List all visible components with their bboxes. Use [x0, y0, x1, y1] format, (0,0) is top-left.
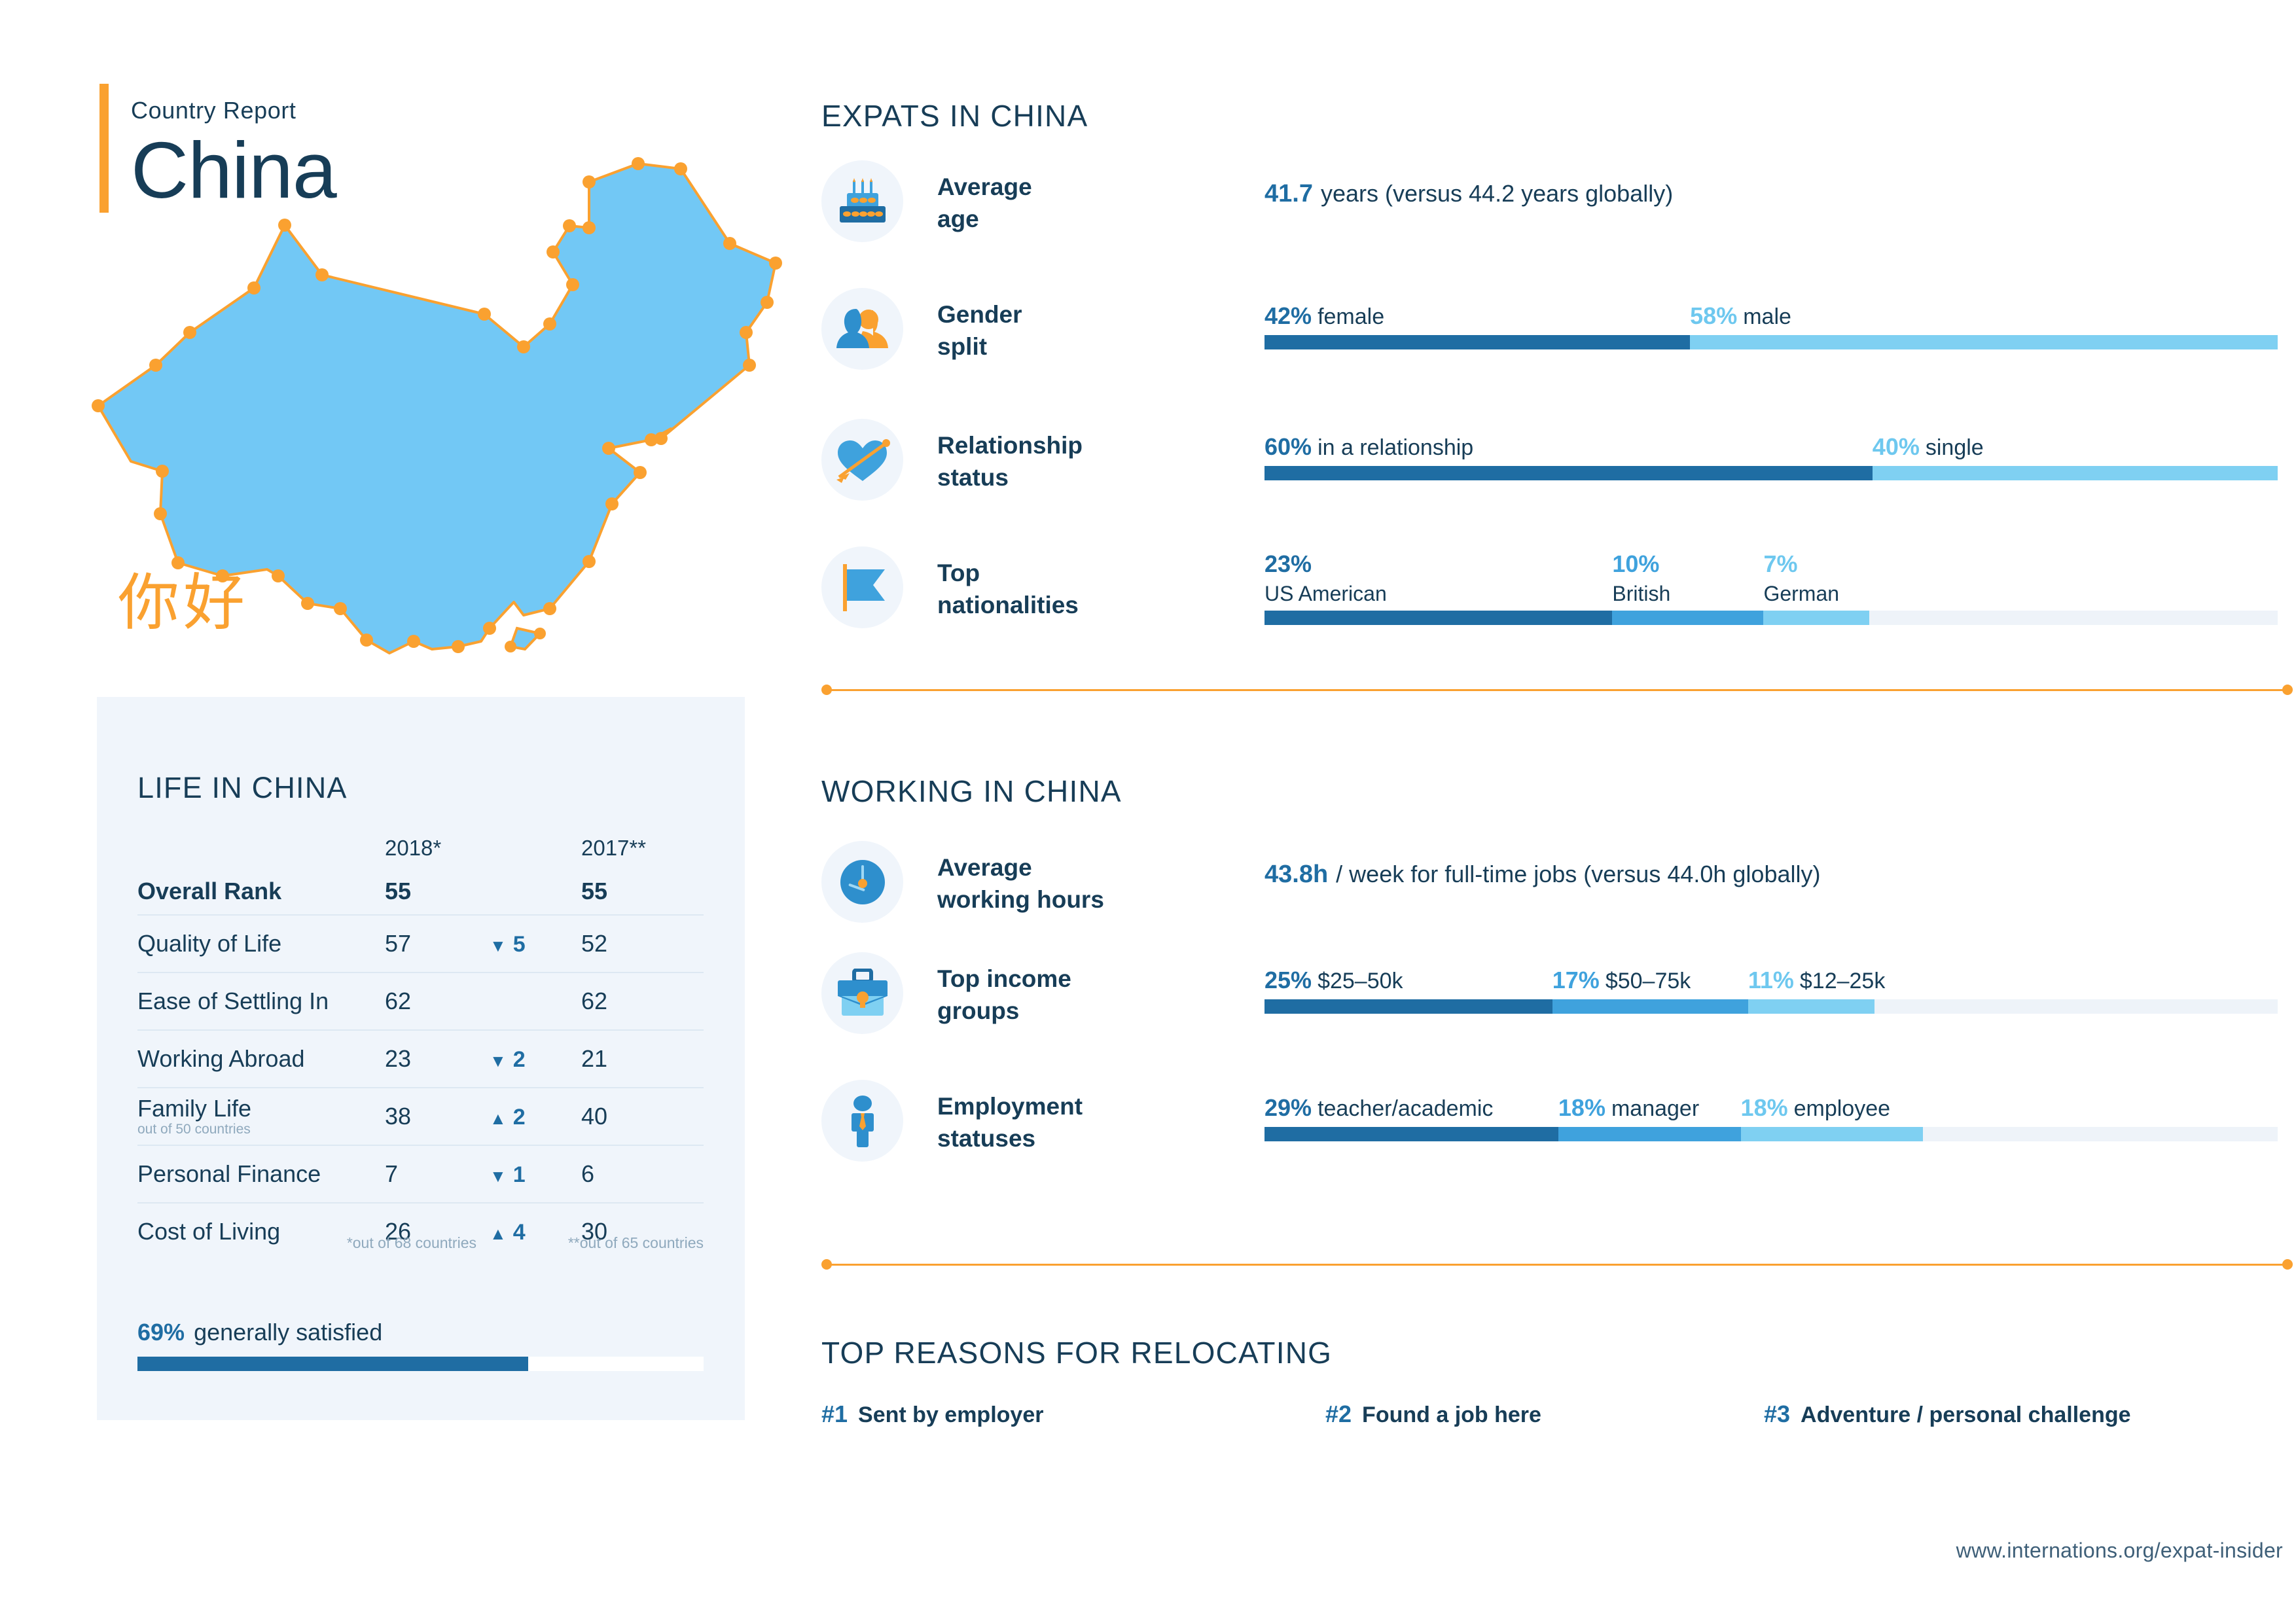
expats-section-title: EXPATS IN CHINA	[821, 98, 1088, 134]
reason-text: Found a job here	[1362, 1402, 1541, 1427]
split-bar-label: 23%US American	[1265, 550, 1387, 606]
split-bar-track	[1265, 466, 2278, 480]
row-rank-2018: 23	[385, 1045, 490, 1073]
reason-text: Adventure / personal challenge	[1801, 1402, 2130, 1427]
split-bar-labels: 42%female58%male	[1265, 302, 2278, 335]
stat-row-flag: Topnationalities23%US American10%British…	[821, 546, 2278, 628]
row-rank-2017: 21	[581, 1045, 699, 1073]
row-rank-change-value: 1	[513, 1162, 526, 1187]
split-bar-track	[1265, 1127, 2278, 1141]
row-rank-2018: 38	[385, 1103, 490, 1130]
stat-body: 42%female58%male	[1265, 288, 2278, 349]
split-bar-segment	[1748, 999, 1875, 1014]
stat-label-line1: Employment	[937, 1090, 1127, 1122]
row-rank-change: ▼5	[490, 930, 581, 957]
split-bar-track	[1265, 999, 2278, 1014]
briefcase-icon	[821, 952, 903, 1034]
clock-icon	[821, 841, 903, 923]
split-bar-segment	[1558, 1127, 1741, 1141]
table-header-row: 2018* 2017**	[137, 828, 704, 868]
split-bar-category: German	[1763, 582, 1839, 606]
footnote-2017: **out of 65 countries	[490, 1234, 704, 1253]
split-bar-percent: 11%	[1748, 967, 1794, 993]
stat-label-line2: working hours	[937, 883, 1127, 916]
table-row: Working Abroad23▼221	[137, 1029, 704, 1087]
divider-2	[821, 1259, 2293, 1270]
split-bar-track	[1265, 335, 2278, 349]
gender-couple-icon	[821, 288, 903, 370]
split-bar-category: $50–75k	[1605, 969, 1691, 993]
split-bar-percent: 25%	[1265, 967, 1312, 993]
split-bar-category: US American	[1265, 582, 1387, 606]
stat-value-caption: / week for full-time jobs (versus 44.0h …	[1336, 861, 1820, 887]
row-rank-change-value: 2	[513, 1105, 526, 1130]
stat-value-caption: years (versus 44.2 years globally)	[1321, 180, 1673, 207]
split-bar-category: British	[1612, 582, 1670, 606]
life-section-title: LIFE IN CHINA	[137, 771, 348, 805]
divider-1-dot-right	[2282, 685, 2293, 695]
stat-label-line2: status	[937, 461, 1127, 493]
row-index-name: Family Lifeout of 50 countries	[137, 1096, 385, 1137]
greeting-text: 你好	[118, 553, 249, 642]
stat-row-clock: Averageworking hours43.8h/ week for full…	[821, 841, 1820, 923]
split-bar-label: 29%teacher/academic	[1265, 1094, 1493, 1122]
split-bar-segment	[1265, 1127, 1558, 1141]
split-bar-label: 18%employee	[1741, 1094, 1890, 1122]
row-index-name: Working Abroad	[137, 1046, 385, 1071]
row-rank-2017: 62	[581, 988, 699, 1015]
split-bar-percent: 42%	[1265, 302, 1312, 329]
split-bar-segment	[1763, 611, 1869, 625]
left-column: Country Report China	[0, 0, 805, 1623]
split-bar-category: in a relationship	[1318, 435, 1473, 460]
satisfaction-percent: 69%	[137, 1319, 185, 1346]
divider-2-line	[827, 1264, 2287, 1266]
satisfaction-bar-fill	[137, 1357, 528, 1371]
table-footnotes: *out of 68 countries **out of 65 countri…	[137, 1234, 704, 1253]
stat-row-person-tie: Employmentstatuses29%teacher/academic18%…	[821, 1080, 2278, 1162]
split-bar-percent: 18%	[1741, 1094, 1788, 1121]
divider-1-line	[827, 689, 2287, 691]
row-rank-2017: 40	[581, 1103, 699, 1130]
reason-rank: #3	[1764, 1400, 1790, 1427]
stat-label: Relationshipstatus	[937, 419, 1127, 493]
row-rank-change: ▼1	[490, 1160, 581, 1188]
row-rank-2018: 7	[385, 1160, 490, 1188]
stat-label-line2: statuses	[937, 1122, 1127, 1154]
working-section-title: WORKING IN CHINA	[821, 774, 1122, 809]
stat-body: 60%in a relationship40%single	[1265, 419, 2278, 480]
split-bar-group: 42%female58%male	[1265, 302, 2278, 349]
header-col-2017: 2017**	[581, 836, 699, 861]
stat-label-line2: age	[937, 203, 1127, 235]
split-bar-labels: 60%in a relationship40%single	[1265, 433, 2278, 466]
split-bar-percent: 7%	[1763, 550, 1839, 578]
stat-row-gender-couple: Gendersplit42%female58%male	[821, 288, 2278, 370]
arrow-down-icon: ▼	[490, 936, 507, 955]
stat-label-line1: Gender	[937, 298, 1127, 330]
split-bar-label: 10%British	[1612, 550, 1670, 606]
split-bar-label: 58%male	[1690, 302, 1791, 330]
divider-2-dot-right	[2282, 1259, 2293, 1270]
footnote-2018: *out of 68 countries	[137, 1234, 490, 1253]
split-bar-percent: 18%	[1558, 1094, 1605, 1121]
stat-label: Averageworking hours	[937, 841, 1127, 916]
split-bar-label: 60%in a relationship	[1265, 433, 1473, 461]
divider-1	[821, 685, 2293, 695]
split-bar-percent: 17%	[1552, 967, 1600, 993]
split-bar-percent: 29%	[1265, 1094, 1312, 1121]
overall-rank-label: Overall Rank	[137, 878, 385, 905]
stat-label-line2: nationalities	[937, 589, 1127, 621]
split-bar-segment	[1612, 611, 1763, 625]
row-rank-2018: 57	[385, 930, 490, 957]
reason-rank: #2	[1325, 1400, 1352, 1427]
row-rank-2018: 62	[385, 988, 490, 1015]
header-col-2018: 2018*	[385, 836, 490, 861]
stat-label: Top incomegroups	[937, 952, 1127, 1027]
life-in-china-panel: LIFE IN CHINA 2018* 2017** Overall Rank …	[97, 697, 745, 1420]
split-bar-label: 40%single	[1873, 433, 1984, 461]
split-bar-category: single	[1926, 435, 1984, 460]
stat-label-line1: Average	[937, 171, 1127, 203]
life-table-body: Quality of Life57▼552Ease of Settling In…	[137, 914, 704, 1260]
heart-arrow-icon	[821, 419, 903, 501]
stat-label-line2: split	[937, 330, 1127, 363]
split-bar-label: 18%manager	[1558, 1094, 1699, 1122]
stat-body: 23%US American10%British7%German	[1265, 546, 2278, 625]
row-rank-2017: 6	[581, 1160, 699, 1188]
split-bar-group: 25%$25–50k17%$50–75k11%$12–25k	[1265, 967, 2278, 1014]
right-column: EXPATS IN CHINA Averageage41.7years (ver…	[821, 0, 2296, 1623]
split-bar-label: 42%female	[1265, 302, 1384, 330]
table-row: Ease of Settling In6262	[137, 972, 704, 1029]
reasons-section-title: TOP REASONS FOR RELOCATING	[821, 1335, 1332, 1370]
report-kicker: Country Report	[131, 97, 336, 124]
stat-label: Employmentstatuses	[937, 1080, 1127, 1154]
footer-url: www.internations.org/expat-insider	[1956, 1539, 2283, 1563]
stat-body: 43.8h/ week for full-time jobs (versus 4…	[1265, 841, 1820, 889]
row-rank-change-value: 2	[513, 1047, 526, 1072]
split-bar-segment	[1741, 1127, 1924, 1141]
row-rank-change: ▲2	[490, 1103, 581, 1130]
stat-body: 41.7years (versus 44.2 years globally)	[1265, 160, 1673, 208]
row-index-name: Personal Finance	[137, 1162, 385, 1186]
stat-label-line2: groups	[937, 995, 1127, 1027]
reason-item: #1Sent by employer	[821, 1400, 1043, 1428]
stat-label-line1: Average	[937, 851, 1127, 883]
split-bar-segment	[1265, 999, 1552, 1014]
table-row: Quality of Life57▼552	[137, 914, 704, 972]
stat-row-birthday-cake: Averageage41.7years (versus 44.2 years g…	[821, 160, 1673, 242]
stat-body: 29%teacher/academic18%manager18%employee	[1265, 1080, 2278, 1141]
stat-label-line1: Top income	[937, 963, 1127, 995]
split-bar-percent: 10%	[1612, 550, 1670, 578]
satisfaction-line: 69%generally satisfied	[137, 1319, 704, 1346]
split-bar-labels: 29%teacher/academic18%manager18%employee	[1265, 1094, 2278, 1127]
satisfaction-bar-track	[137, 1357, 704, 1371]
arrow-up-icon: ▲	[490, 1109, 507, 1128]
split-bar-label: 11%$12–25k	[1748, 967, 1886, 994]
split-bar-percent: 58%	[1690, 302, 1737, 329]
split-bar-category: employee	[1794, 1096, 1890, 1121]
stat-row-briefcase: Top incomegroups25%$25–50k17%$50–75k11%$…	[821, 952, 2278, 1034]
row-rank-change-value: 5	[513, 932, 526, 957]
overall-rank-2017: 55	[581, 878, 699, 905]
row-rank-change: ▼2	[490, 1045, 581, 1073]
table-row-overall: Overall Rank 55 55	[137, 868, 704, 914]
split-bar-labels: 23%US American10%British7%German	[1265, 550, 2278, 611]
divider-1-dot-left	[821, 685, 832, 695]
split-bar-category: $25–50k	[1318, 969, 1403, 993]
person-tie-icon	[821, 1080, 903, 1162]
reason-rank: #1	[821, 1400, 848, 1427]
row-subnote: out of 50 countries	[137, 1122, 385, 1137]
reason-item: #3Adventure / personal challenge	[1764, 1400, 2131, 1428]
stat-value: 41.7	[1265, 180, 1313, 207]
split-bar-percent: 40%	[1873, 433, 1920, 460]
split-bar-group: 29%teacher/academic18%manager18%employee	[1265, 1094, 2278, 1141]
row-rank-2017: 52	[581, 930, 699, 957]
stat-label: Topnationalities	[937, 546, 1127, 621]
split-bar-percent: 23%	[1265, 550, 1387, 578]
split-bar-label: 25%$25–50k	[1265, 967, 1403, 994]
table-row: Family Lifeout of 50 countries38▲240	[137, 1087, 704, 1145]
split-bar-label: 17%$50–75k	[1552, 967, 1691, 994]
arrow-down-icon: ▼	[490, 1051, 507, 1071]
split-bar-category: manager	[1611, 1096, 1699, 1121]
split-bar-segment	[1552, 999, 1748, 1014]
split-bar-group: 60%in a relationship40%single	[1265, 433, 2278, 480]
life-ranking-table: 2018* 2017** Overall Rank 55 55 Quality …	[137, 828, 704, 1260]
reason-text: Sent by employer	[858, 1402, 1043, 1427]
satisfaction-block: 69%generally satisfied	[137, 1319, 704, 1371]
reason-item: #2Found a job here	[1325, 1400, 1541, 1428]
flag-icon	[821, 546, 903, 628]
overall-rank-2018: 55	[385, 878, 490, 905]
stat-label-line1: Top	[937, 557, 1127, 589]
satisfaction-label: generally satisfied	[194, 1319, 382, 1346]
divider-2-dot-left	[821, 1259, 832, 1270]
split-bar-segment	[1265, 335, 1690, 349]
split-bar-category: female	[1318, 304, 1384, 329]
split-bar-segment	[1690, 335, 2278, 349]
birthday-cake-icon	[821, 160, 903, 242]
split-bar-category: male	[1743, 304, 1791, 329]
stat-body: 25%$25–50k17%$50–75k11%$12–25k	[1265, 952, 2278, 1014]
row-index-name: Quality of Life	[137, 931, 385, 956]
split-bar-segment	[1265, 611, 1612, 625]
stat-label: Gendersplit	[937, 288, 1127, 363]
stat-label-line1: Relationship	[937, 429, 1127, 461]
split-bar-label: 7%German	[1763, 550, 1839, 606]
split-bar-labels: 25%$25–50k17%$50–75k11%$12–25k	[1265, 967, 2278, 999]
split-bar-category: $12–25k	[1800, 969, 1885, 993]
stat-label: Averageage	[937, 160, 1127, 235]
table-row: Personal Finance7▼16	[137, 1145, 704, 1202]
stat-row-heart-arrow: Relationshipstatus60%in a relationship40…	[821, 419, 2278, 501]
split-bar-group: 23%US American10%British7%German	[1265, 550, 2278, 625]
split-bar-segment	[1873, 466, 2278, 480]
split-bar-category: teacher/academic	[1318, 1096, 1493, 1121]
arrow-down-icon: ▼	[490, 1166, 507, 1186]
split-bar-track	[1265, 611, 2278, 625]
row-index-name: Ease of Settling In	[137, 989, 385, 1014]
stat-value: 43.8h	[1265, 861, 1328, 888]
split-bar-percent: 60%	[1265, 433, 1312, 460]
split-bar-segment	[1265, 466, 1873, 480]
